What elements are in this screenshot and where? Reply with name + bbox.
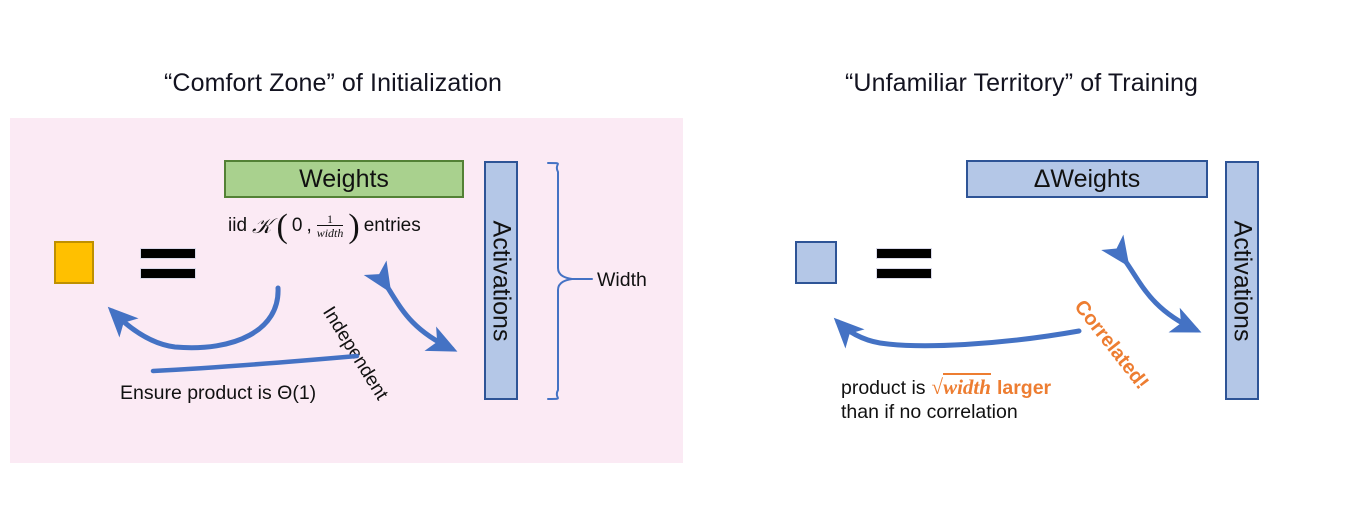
equals-bar-bottom xyxy=(140,268,196,279)
sqrt-width-radicand: width xyxy=(943,373,991,399)
product-note-prefix: product is xyxy=(841,377,926,400)
correlated-label: Correlated! xyxy=(1069,296,1153,394)
weights-box[interactable]: Weights xyxy=(224,160,464,198)
right-activations-bar[interactable]: Activations xyxy=(1225,161,1259,400)
left-panel-title: “Comfort Zone” of Initialization xyxy=(164,68,502,98)
formula-suffix: entries xyxy=(364,215,421,237)
weights-box-label: Weights xyxy=(299,167,389,192)
left-equals-icon xyxy=(140,248,196,279)
equals-bar-bottom xyxy=(876,268,932,279)
formula-variance-denominator: width xyxy=(317,225,344,239)
left-input-square[interactable] xyxy=(54,241,94,284)
formula-variance-numerator: 1 xyxy=(327,213,333,225)
product-note-line2: than if no correlation xyxy=(841,401,1018,424)
product-note-arrow xyxy=(838,322,1079,346)
left-activations-label: Activations xyxy=(487,220,516,341)
equals-bar-top xyxy=(140,248,196,259)
delta-weights-box[interactable]: ΔWeights xyxy=(966,160,1208,198)
delta-weights-box-label: ΔWeights xyxy=(1034,167,1141,192)
formula-normal-symbol: 𝒦 xyxy=(251,214,273,239)
ensure-product-caption: Ensure product is Θ(1) xyxy=(120,382,316,405)
right-input-square[interactable] xyxy=(795,241,837,284)
formula-variance-fraction: 1 width xyxy=(317,213,344,239)
formula-comma: , xyxy=(306,215,311,237)
left-activations-bar[interactable]: Activations xyxy=(484,161,518,400)
product-note-line1: product is √width larger xyxy=(841,375,1051,400)
right-panel-title: “Unfamiliar Territory” of Training xyxy=(845,68,1198,98)
formula-prefix: iid xyxy=(228,215,247,237)
width-bracket-label: Width xyxy=(597,269,647,292)
right-equals-icon xyxy=(876,248,932,279)
diagram-canvas: “Comfort Zone” of Initialization Weights… xyxy=(0,0,1347,526)
correlated-double-arrow xyxy=(1126,262,1196,330)
equals-bar-top xyxy=(876,248,932,259)
sqrt-width-highlight: √width xyxy=(932,375,991,400)
iid-distribution-formula: iid 𝒦 ( 0, 1 width ) entries xyxy=(228,213,421,239)
product-note-suffix: larger xyxy=(997,377,1051,400)
right-activations-label: Activations xyxy=(1228,220,1257,341)
formula-mean: 0 xyxy=(292,215,303,237)
